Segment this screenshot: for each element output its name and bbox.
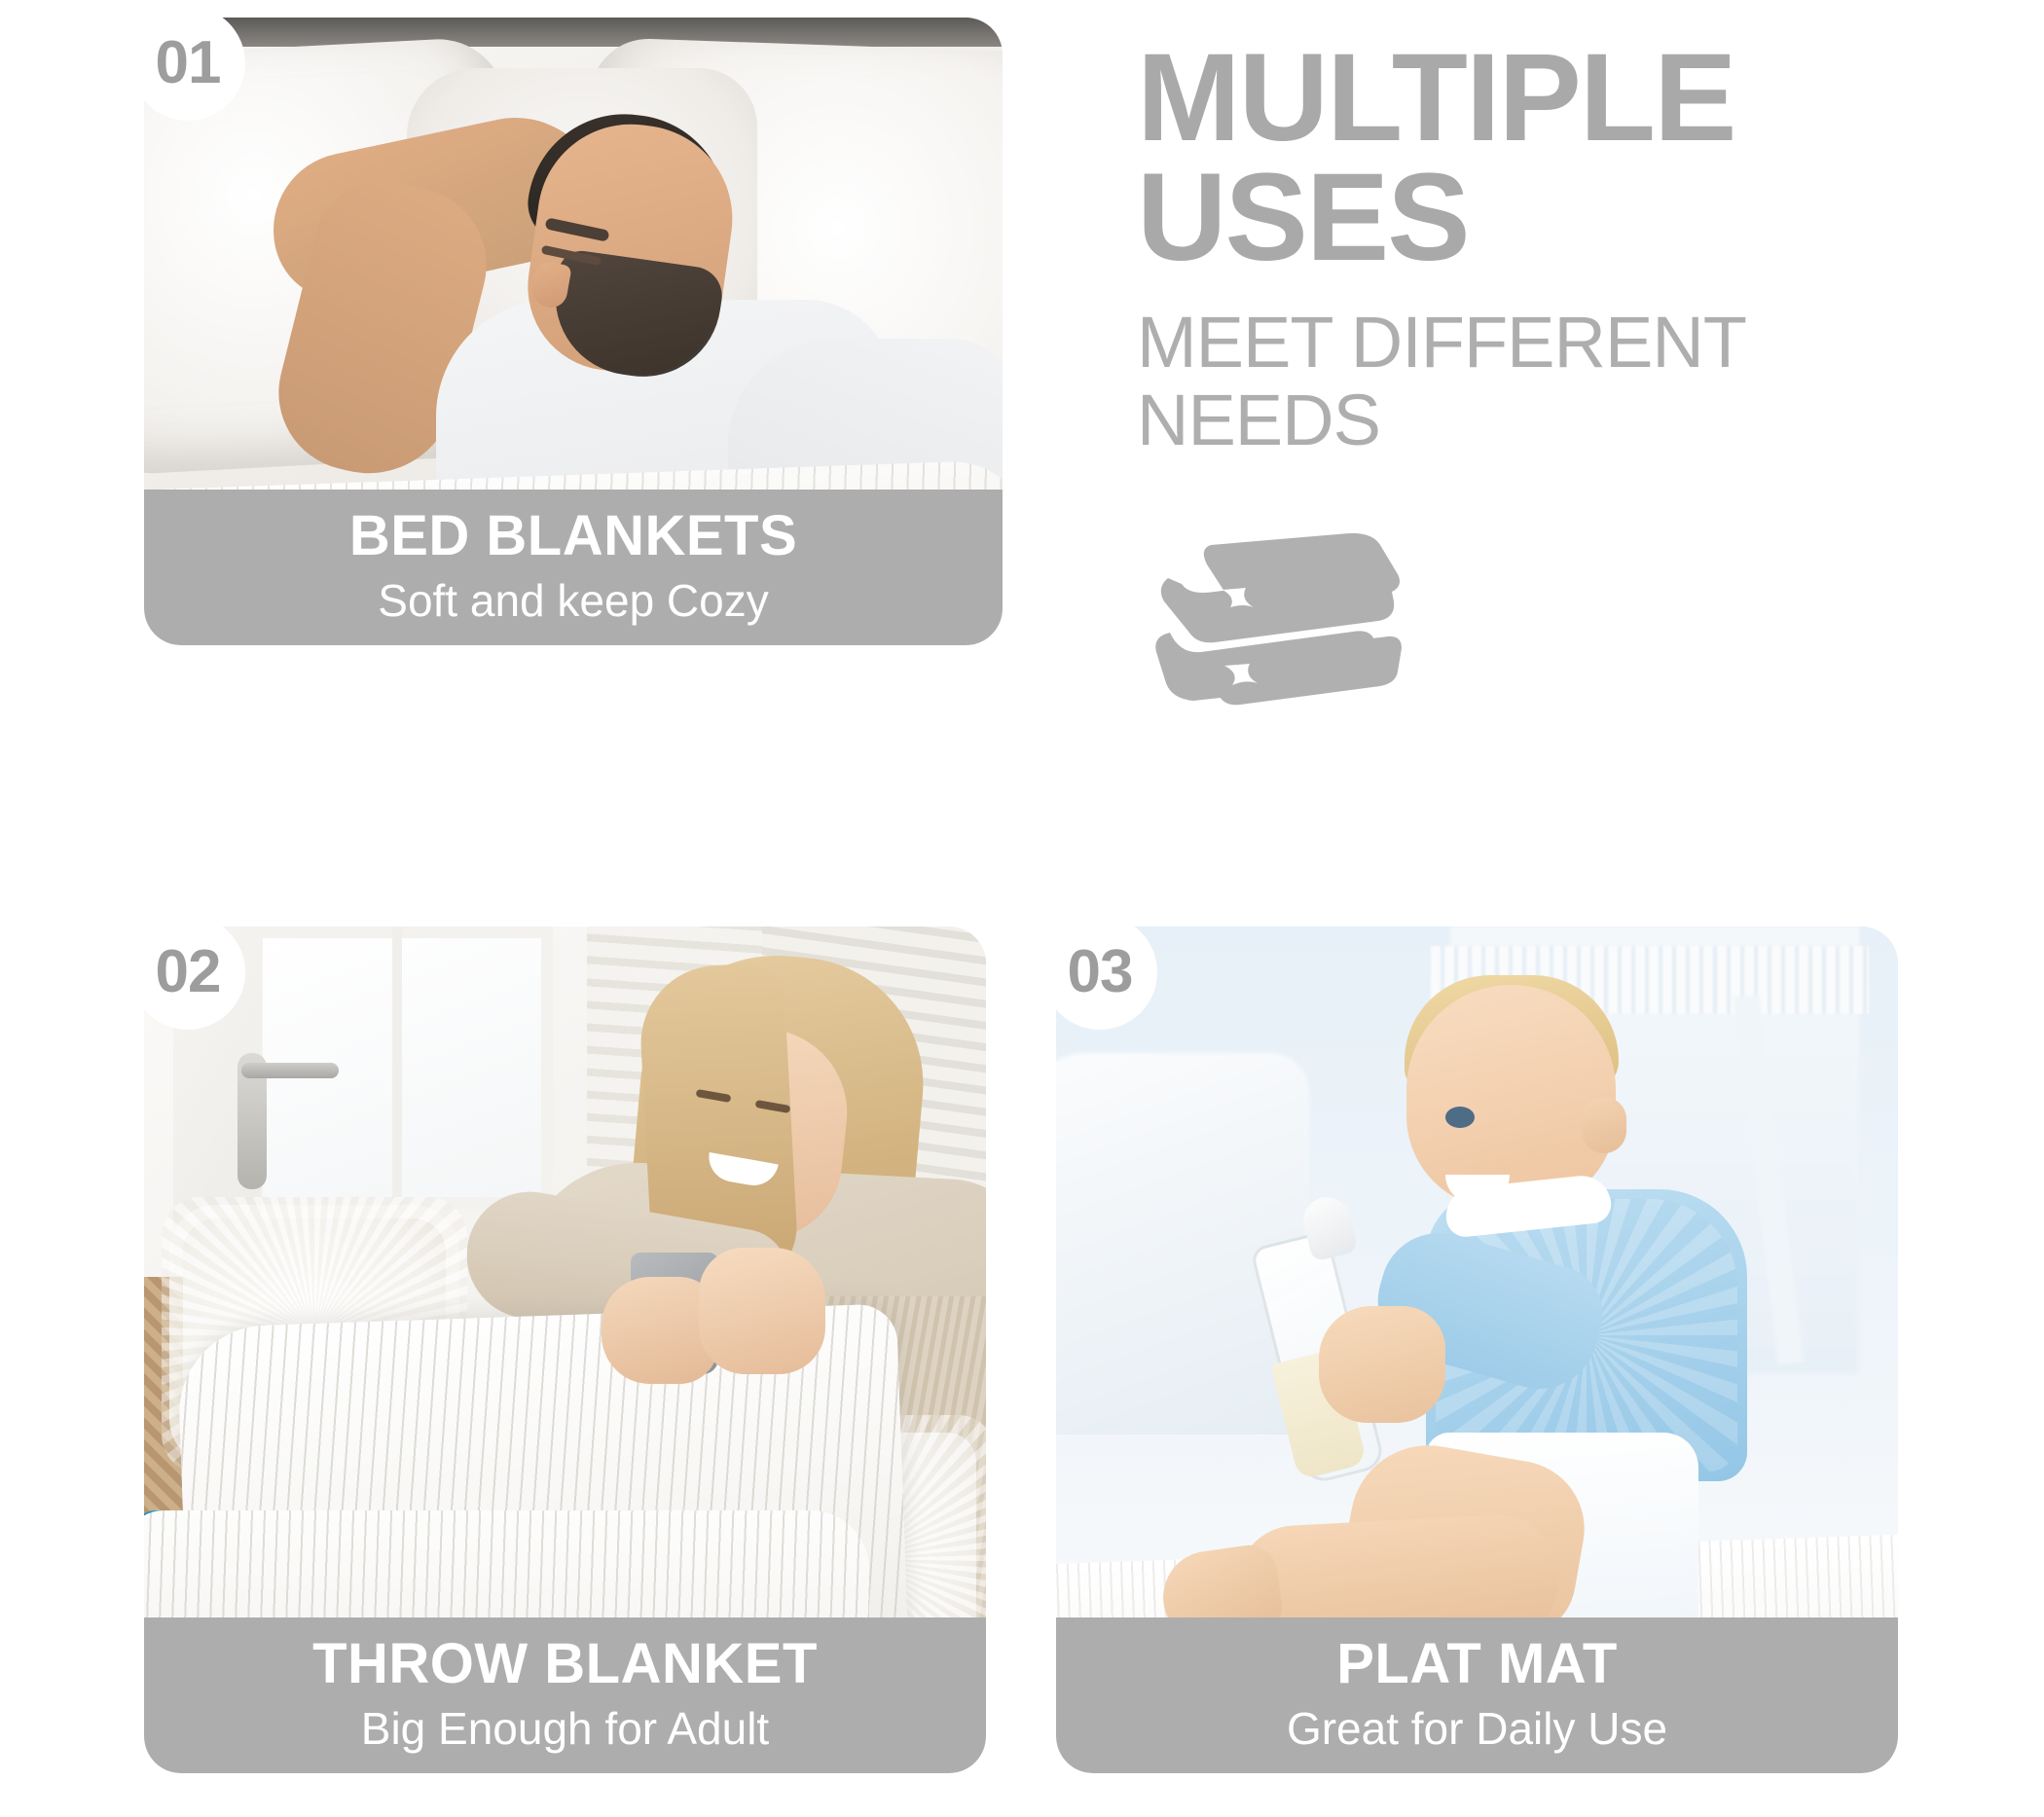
card-title: PLAT MAT <box>1336 1635 1618 1694</box>
baby-eye <box>1445 1107 1475 1128</box>
card-subtitle: Soft and keep Cozy <box>378 574 768 628</box>
card-photo-throw-blanket: THROW BLANKET Big Enough for Adult <box>144 927 986 1773</box>
card-subtitle: Big Enough for Adult <box>361 1702 769 1756</box>
card-number-badge-03: 03 <box>1042 915 1157 1030</box>
baby-hand <box>1319 1306 1445 1423</box>
woman-hand-right <box>699 1248 825 1374</box>
card-number-badge-02: 02 <box>130 915 245 1030</box>
use-case-card-throw-blanket[interactable]: THROW BLANKET Big Enough for Adult 02 <box>144 927 986 1773</box>
infographic-page: BED BLANKETS Soft and keep Cozy 01 <box>0 0 2044 1817</box>
baby-ear <box>1582 1097 1626 1153</box>
card-photo-bed-blankets: BED BLANKETS Soft and keep Cozy <box>144 18 1003 645</box>
card-caption-bed-blankets: BED BLANKETS Soft and keep Cozy <box>144 490 1003 645</box>
card-title: THROW BLANKET <box>312 1635 818 1694</box>
headboard <box>144 18 1003 47</box>
card-caption-throw-blanket: THROW BLANKET Big Enough for Adult <box>144 1617 986 1773</box>
card-title: BED BLANKETS <box>349 507 797 566</box>
card-photo-plat-mat: PLAT MAT Great for Daily Use <box>1056 927 1898 1773</box>
card-number: 03 <box>1068 942 1133 1002</box>
card-number: 02 <box>156 942 221 1002</box>
card-number: 01 <box>156 33 221 93</box>
card-number-badge-01: 01 <box>130 6 245 121</box>
page-subtitle: MEET DIFFERENT NEEDS <box>1137 304 1993 459</box>
card-caption-plat-mat: PLAT MAT Great for Daily Use <box>1056 1617 1898 1773</box>
window-mullion <box>392 927 402 1209</box>
use-case-card-plat-mat[interactable]: PLAT MAT Great for Daily Use 03 <box>1056 927 1898 1773</box>
card-subtitle: Great for Daily Use <box>1287 1702 1667 1756</box>
door-handle <box>241 1063 339 1078</box>
use-case-card-bed-blankets[interactable]: BED BLANKETS Soft and keep Cozy 01 <box>144 18 1003 645</box>
headline-panel: MULTIPLE USES MEET DIFFERENT NEEDS <box>1137 39 1993 751</box>
page-title: MULTIPLE USES <box>1137 39 1993 278</box>
stacked-blankets-icon <box>1147 527 1439 751</box>
